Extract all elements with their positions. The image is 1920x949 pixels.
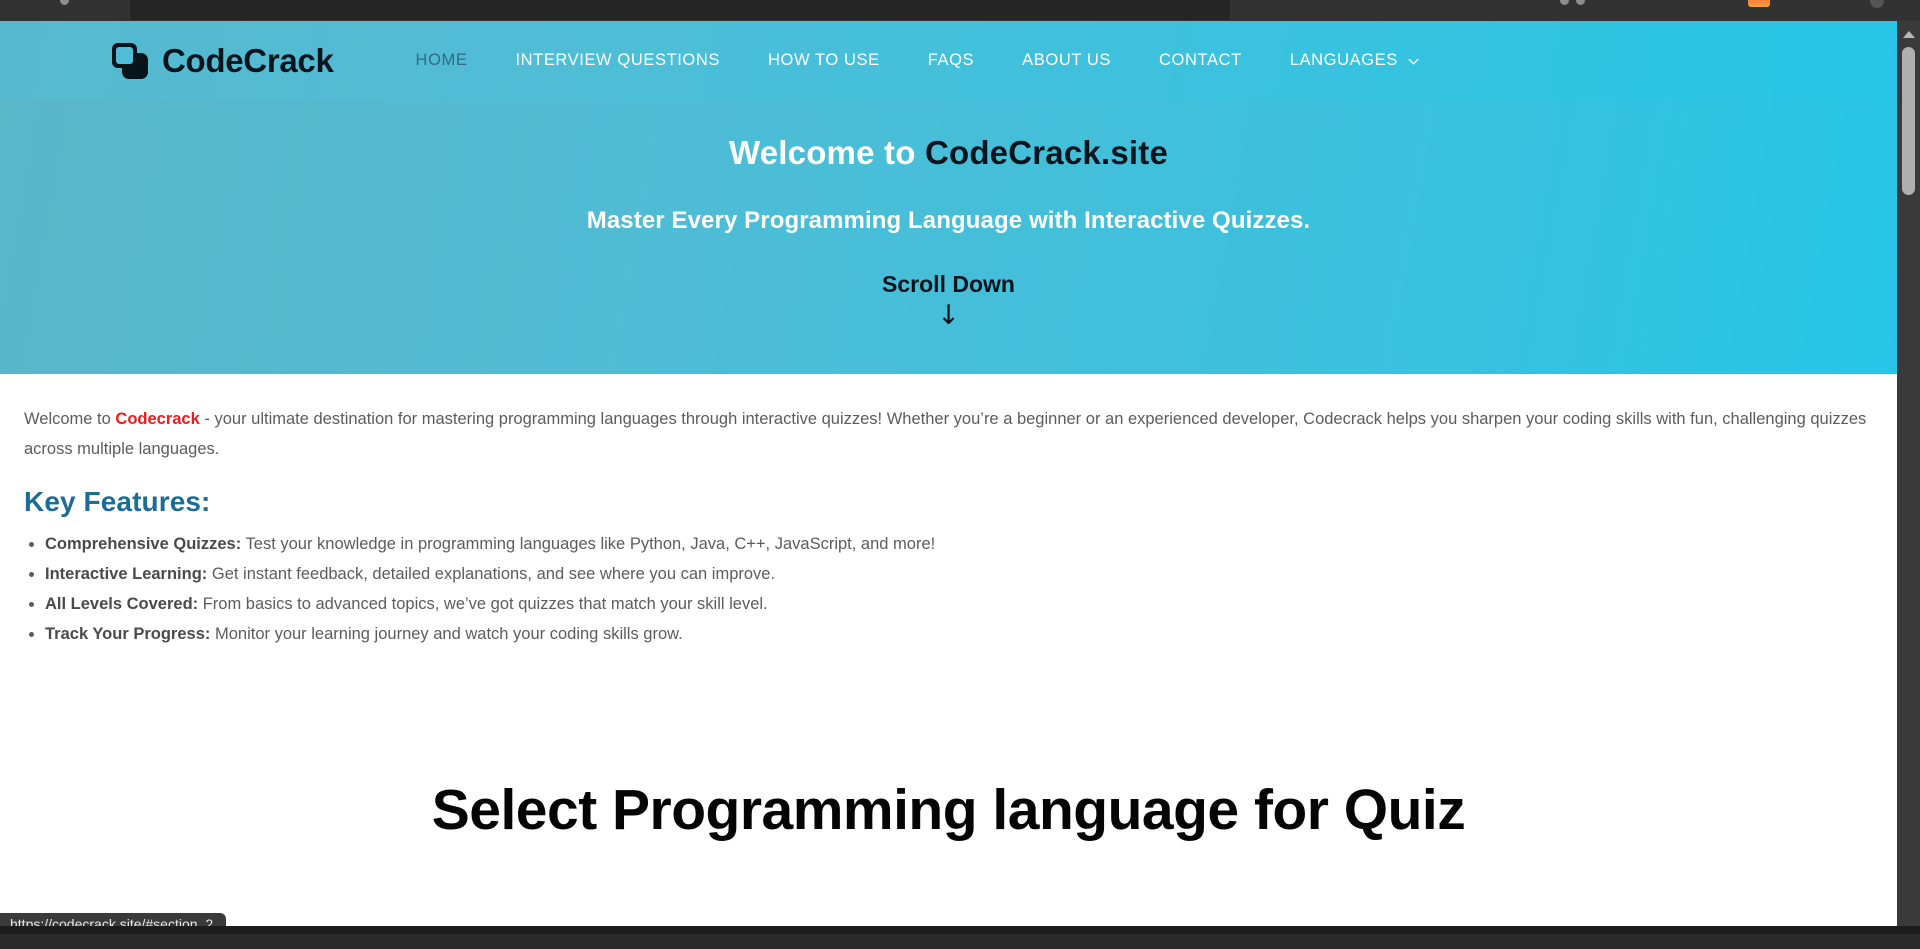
feature-text: Get instant feedback, detailed explanati… xyxy=(207,565,775,583)
key-features-list: Comprehensive Quizzes: Test your knowled… xyxy=(24,529,1873,649)
brand-logo-link[interactable]: CodeCrack xyxy=(112,42,334,80)
arrow-down-icon: ↓ xyxy=(882,302,1015,329)
browser-chrome xyxy=(0,0,1920,21)
main-content: Welcome to Codecrack - your ultimate des… xyxy=(0,374,1897,843)
extension-icon[interactable] xyxy=(1748,0,1770,7)
window-bottom-shadow xyxy=(0,926,1920,934)
feature-label: Track Your Progress: xyxy=(45,625,210,643)
nav-item-how-to-use[interactable]: HOW TO USE xyxy=(768,45,880,76)
page-scrollbar[interactable] xyxy=(1897,21,1920,926)
intro-brand: Codecrack xyxy=(115,410,199,428)
nav-item-faqs[interactable]: FAQS xyxy=(928,45,974,76)
toolbar-icon-a[interactable] xyxy=(1560,0,1569,5)
nav-item-languages[interactable]: LANGUAGES xyxy=(1290,45,1420,76)
browser-tab-strip[interactable] xyxy=(130,0,1230,20)
window-bottom-strip xyxy=(0,926,1920,949)
scroll-down-label: Scroll Down xyxy=(882,271,1015,298)
hero-title-brand: CodeCrack.site xyxy=(925,134,1168,171)
nav-item-contact[interactable]: CONTACT xyxy=(1159,45,1242,76)
nav-item-interview-questions[interactable]: INTERVIEW QUESTIONS xyxy=(515,45,720,76)
codecrack-logo-icon xyxy=(112,43,148,79)
intro-prefix: Welcome to xyxy=(24,410,115,428)
profile-avatar[interactable] xyxy=(1870,0,1884,8)
feature-label: All Levels Covered: xyxy=(45,595,198,613)
feature-label: Comprehensive Quizzes: xyxy=(45,535,241,553)
main-navigation: HOME INTERVIEW QUESTIONS HOW TO USE FAQS… xyxy=(416,45,1420,76)
site-header: CodeCrack HOME INTERVIEW QUESTIONS HOW T… xyxy=(0,21,1897,100)
select-language-heading: Select Programming language for Quiz xyxy=(24,777,1873,843)
intro-rest: - your ultimate destination for masterin… xyxy=(24,410,1866,458)
key-features-heading: Key Features: xyxy=(24,486,1873,518)
chevron-down-icon xyxy=(1407,55,1420,68)
list-item: Comprehensive Quizzes: Test your knowled… xyxy=(24,529,1873,559)
hero-subtitle: Master Every Programming Language with I… xyxy=(0,207,1897,235)
hero-section: Welcome to CodeCrack.site Master Every P… xyxy=(0,100,1897,374)
feature-text: Monitor your learning journey and watch … xyxy=(210,625,682,643)
feature-text: From basics to advanced topics, we’ve go… xyxy=(198,595,768,613)
brand-name: CodeCrack xyxy=(162,42,334,80)
scrollbar-thumb[interactable] xyxy=(1902,47,1915,195)
nav-item-about-us[interactable]: ABOUT US xyxy=(1022,45,1111,76)
feature-label: Interactive Learning: xyxy=(45,565,207,583)
reload-icon[interactable] xyxy=(60,0,69,5)
nav-item-languages-label: LANGUAGES xyxy=(1290,51,1398,70)
list-item: Interactive Learning: Get instant feedba… xyxy=(24,559,1873,589)
feature-text: Test your knowledge in programming langu… xyxy=(241,535,935,553)
scroll-down-button[interactable]: Scroll Down ↓ xyxy=(882,271,1015,329)
hero-title-prefix: Welcome to xyxy=(729,134,925,171)
hero-title: Welcome to CodeCrack.site xyxy=(0,134,1897,172)
intro-paragraph: Welcome to Codecrack - your ultimate des… xyxy=(24,404,1873,464)
toolbar-icon-b[interactable] xyxy=(1576,0,1585,5)
list-item: Track Your Progress: Monitor your learni… xyxy=(24,619,1873,649)
scroll-up-arrow-icon[interactable] xyxy=(1903,31,1915,38)
nav-item-home[interactable]: HOME xyxy=(416,45,468,76)
page-viewport: CodeCrack HOME INTERVIEW QUESTIONS HOW T… xyxy=(0,21,1920,926)
list-item: All Levels Covered: From basics to advan… xyxy=(24,589,1873,619)
